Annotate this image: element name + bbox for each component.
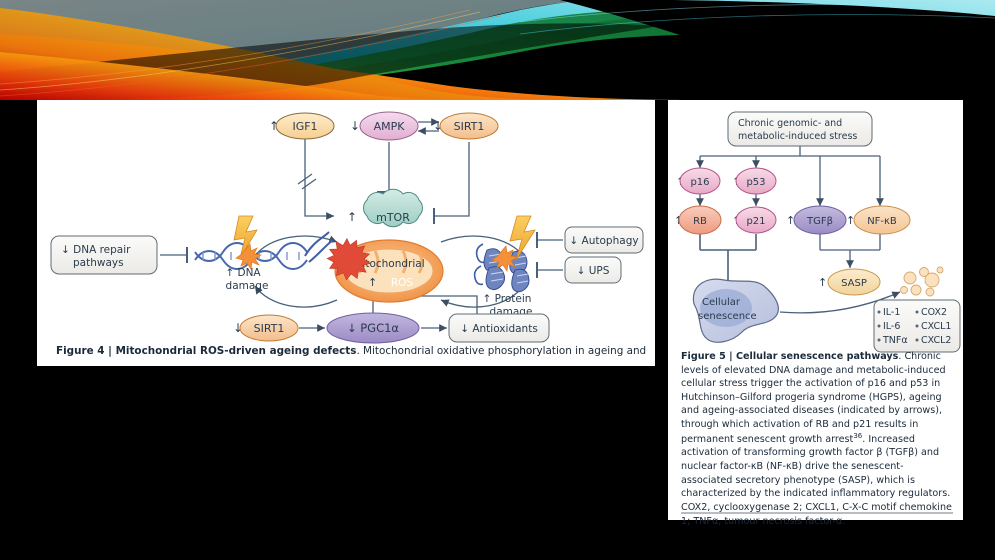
cytokine-list-box: IL-1 IL-6 TNFα COX2 CXCL1 CXCL2 xyxy=(874,300,960,352)
figure-5-caption-rule xyxy=(681,512,953,514)
figure-5-caption: Figure 5 | Cellular senescence pathways.… xyxy=(681,350,953,528)
sirt1-bottom-label: SIRT1 xyxy=(254,322,285,335)
cytokine-left-0: IL-1 xyxy=(883,307,900,318)
senescence-label-line1: Cellular xyxy=(702,297,741,308)
sasp-label: SASP xyxy=(841,278,867,289)
dna-repair-label-line2: pathways xyxy=(73,257,124,269)
autophagy-label: ↓ Autophagy xyxy=(569,235,638,247)
cytokine-right-2: CXCL2 xyxy=(921,335,951,346)
rb-label: RB xyxy=(693,216,707,227)
node-antioxidants-box: ↓ Antioxidants xyxy=(449,314,549,342)
figure-4-caption-title: Mitochondrial ROS-driven ageing defects xyxy=(116,345,357,357)
cytokine-left-2: TNFα xyxy=(882,335,908,346)
node-ups-box: ↓ UPS xyxy=(565,257,621,283)
stress-box-line2: metabolic-induced stress xyxy=(738,131,857,142)
figure-4-caption-body: . Mitochondrial oxidative phosphorylatio… xyxy=(356,345,646,357)
figure-4-diagram: ↑↓ IGF1 ↓ AMPK ↓ SIRT1 ↑ mTOR xyxy=(37,100,655,366)
node-chronic-stress-box: Chronic genomic- and metabolic-induced s… xyxy=(728,112,872,146)
sirt1-top-label: SIRT1 xyxy=(454,120,485,133)
figure-5-caption-label: Figure 5 | xyxy=(681,351,733,362)
node-autophagy-box: ↓ Autophagy xyxy=(565,227,643,253)
cytokine-left-1: IL-6 xyxy=(883,321,900,332)
pgc1a-label: ↓ PGC1α xyxy=(347,321,399,335)
ampk-label: AMPK xyxy=(374,120,406,133)
igf1-label: IGF1 xyxy=(292,120,317,133)
decorative-banner xyxy=(0,0,995,100)
node-pgc1a: ↓ PGC1α xyxy=(327,313,419,343)
dna-damage-label-line1: ↑ DNA xyxy=(225,267,261,279)
p16-label: p16 xyxy=(690,177,709,188)
ros-label: ROS xyxy=(391,277,414,289)
stress-box-line1: Chronic genomic- and xyxy=(738,118,842,129)
cytokine-right-1: CXCL1 xyxy=(921,321,951,332)
slide-canvas: ↑↓ IGF1 ↓ AMPK ↓ SIRT1 ↑ mTOR xyxy=(0,0,995,560)
cytokine-right-0: COX2 xyxy=(921,307,947,318)
senescence-label-line2: senescence xyxy=(698,311,757,322)
protein-damage-label-line1: ↑ Protein xyxy=(483,293,532,305)
ros-arrow: ↑ xyxy=(368,276,377,289)
mtor-arrow: ↑ xyxy=(347,210,357,224)
ups-label: ↓ UPS xyxy=(577,265,610,277)
p21-label: p21 xyxy=(746,216,765,227)
figure-4-caption-label: Figure 4 | xyxy=(56,345,112,357)
banner-swoosh-graphic xyxy=(0,0,995,100)
figure-5-caption-superscript: 36 xyxy=(853,432,862,440)
node-dna-repair-box: ↓ DNA repair pathways xyxy=(51,236,157,274)
figure-5-caption-title: Cellular senescence pathways xyxy=(736,351,898,362)
mtor-label: mTOR xyxy=(376,211,410,224)
antioxidants-label: ↓ Antioxidants xyxy=(460,323,538,335)
ampk-arrow: ↓ xyxy=(350,119,360,133)
tgfb-label: TGFβ xyxy=(806,216,833,227)
sasp-arrow: ↑ xyxy=(818,276,827,289)
dna-repair-label-line1: ↓ DNA repair xyxy=(61,244,131,256)
nfkb-label: NF-κB xyxy=(867,216,897,227)
figure-4-caption: Figure 4 | Mitochondrial ROS-driven agei… xyxy=(56,345,646,358)
figure-5-caption-body-1: . Chronic levels of elevated DNA damage … xyxy=(681,351,946,445)
p53-label: p53 xyxy=(746,177,765,188)
dna-damage-label-line2: damage xyxy=(226,280,269,292)
figure-4-panel: ↑↓ IGF1 ↓ AMPK ↓ SIRT1 ↑ mTOR xyxy=(37,100,655,366)
